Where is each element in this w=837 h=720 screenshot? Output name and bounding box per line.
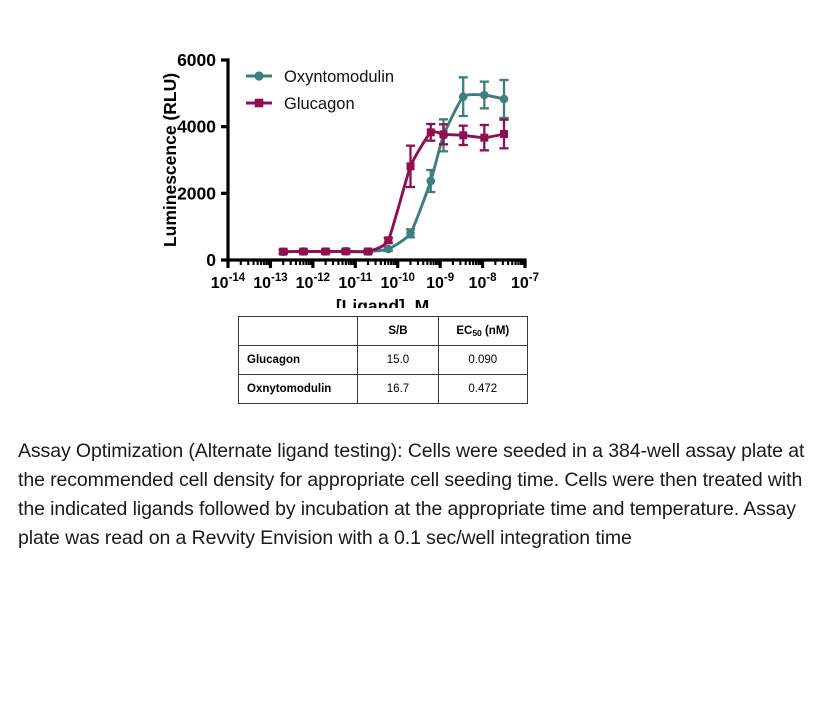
x-axis-tick-label: 10-12 — [296, 272, 330, 292]
table-cell-sb: 16.7 — [358, 375, 438, 404]
data-point-marker — [342, 247, 350, 255]
legend-label-0: Oxyntomodulin — [284, 68, 394, 86]
data-point-marker — [459, 92, 468, 101]
data-point-marker — [427, 128, 435, 136]
y-axis-tick-label: 6000 — [177, 50, 216, 70]
x-axis-tick-label: 10-14 — [211, 272, 246, 292]
y-axis-tick-label: 0 — [206, 250, 216, 270]
stats-table: S/B EC50 (nM) Glucagon15.00.090Oxnytomod… — [238, 316, 528, 404]
table-header-sb: S/B — [358, 317, 438, 346]
data-point-marker — [426, 177, 435, 186]
x-axis-tick-label: 10-13 — [253, 272, 287, 292]
dose-response-chart: 020004000600010-1410-1310-1210-1110-1010… — [150, 38, 550, 308]
table-row: Glucagon15.00.090 — [239, 346, 528, 375]
figure-root: 020004000600010-1410-1310-1210-1110-1010… — [0, 0, 837, 720]
series-glucagon — [279, 120, 509, 256]
legend-marker-square — [255, 99, 264, 108]
data-point-marker — [459, 131, 467, 139]
ec50-main-text: EC — [456, 325, 472, 337]
series-curve — [283, 131, 504, 251]
figure-caption: Assay Optimization (Alternate ligand tes… — [18, 437, 818, 553]
data-point-marker — [299, 248, 307, 256]
legend-label-1: Glucagon — [284, 95, 355, 113]
data-point-marker — [480, 91, 489, 100]
y-axis-tick-label: 2000 — [177, 183, 216, 203]
x-axis-tick-label: 10-8 — [469, 272, 498, 292]
y-axis-tick-label: 4000 — [177, 117, 216, 137]
data-point-marker — [440, 130, 448, 138]
legend-marker-circle — [254, 71, 263, 80]
data-point-marker — [500, 130, 508, 138]
x-axis-tick-label: 10-11 — [338, 272, 372, 292]
ec50-subscript: 50 — [472, 328, 481, 338]
data-point-marker — [384, 245, 393, 254]
x-axis-tick-label: 10-10 — [381, 272, 415, 292]
x-axis-tick-label: 10-9 — [426, 272, 454, 292]
data-point-marker — [279, 248, 287, 256]
y-axis-title: Luminescence (RLU) — [160, 73, 180, 247]
table-body: Glucagon15.00.090Oxnytomodulin16.70.472 — [239, 346, 528, 404]
table-cell-ligand-name: Oxnytomodulin — [239, 375, 358, 404]
x-axis-tick-label: 10-7 — [511, 272, 539, 292]
stats-table-container: S/B EC50 (nM) Glucagon15.00.090Oxnytomod… — [238, 316, 528, 404]
table-cell-ligand-name: Glucagon — [239, 346, 358, 375]
data-point-marker — [384, 236, 392, 244]
data-point-marker — [500, 95, 509, 104]
data-point-marker — [406, 162, 414, 170]
table-cell-ec50: 0.472 — [438, 375, 527, 404]
table-header-ec50: EC50 (nM) — [438, 317, 527, 346]
ec50-unit-text: (nM) — [482, 325, 509, 337]
data-point-marker — [480, 134, 488, 142]
table-corner-cell — [239, 317, 358, 346]
data-point-marker — [322, 248, 330, 256]
table-header-row: S/B EC50 (nM) — [239, 317, 528, 346]
data-point-marker — [406, 229, 415, 238]
data-point-marker — [364, 248, 372, 256]
x-axis-title: [Ligand], M — [336, 296, 429, 308]
chart-canvas: 020004000600010-1410-1310-1210-1110-1010… — [150, 38, 550, 308]
table-cell-sb: 15.0 — [358, 346, 438, 375]
table-row: Oxnytomodulin16.70.472 — [239, 375, 528, 404]
table-cell-ec50: 0.090 — [438, 346, 527, 375]
chart-legend: OxyntomodulinGlucagon — [246, 68, 394, 113]
